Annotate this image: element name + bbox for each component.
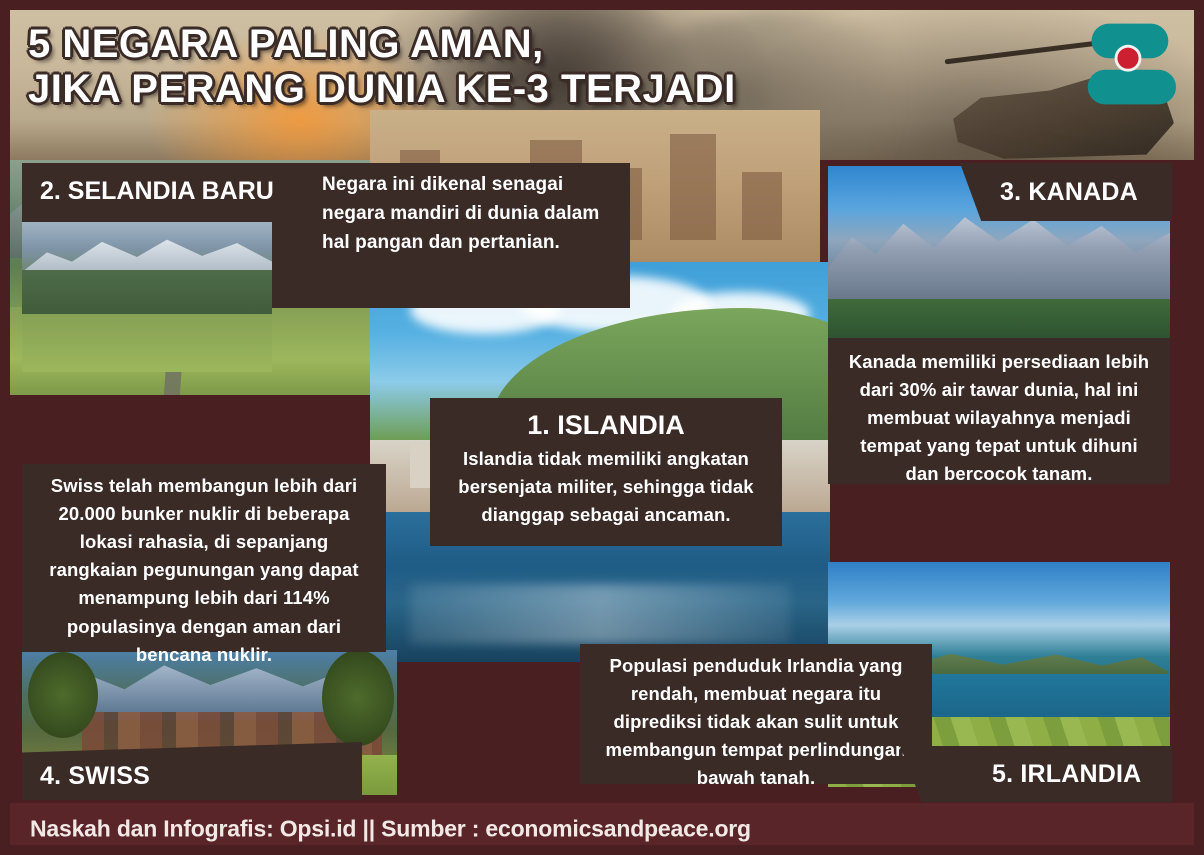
- country-label-canada: 3. KANADA: [960, 163, 1172, 221]
- headline-line-2: JIKA PERANG DUNIA KE-3 TERJADI: [28, 67, 878, 112]
- country-body-swiss: Swiss telah membangun lebih dari 20.000 …: [36, 472, 372, 669]
- country-title-new-zealand: 2. SELANDIA BARU: [40, 177, 274, 206]
- country-label-ireland: 5. IRLANDIA: [900, 746, 1172, 802]
- country-title-swiss: 4. SWISS: [40, 762, 150, 791]
- country-body-iceland: Islandia tidak memiliki angkatan bersenj…: [448, 445, 764, 529]
- country-card-swiss: Swiss telah membangun lebih dari 20.000 …: [22, 464, 386, 652]
- opsi-id-logo[interactable]: [1080, 16, 1176, 112]
- footer-bar: Naskah dan Infografis: Opsi.id || Sumber…: [0, 803, 1204, 855]
- country-title-ireland: 5. IRLANDIA: [992, 760, 1141, 789]
- country-card-iceland: 1. ISLANDIA Islandia tidak memiliki angk…: [430, 398, 782, 546]
- country-body-ireland: Populasi penduduk Irlandia yang rendah, …: [596, 652, 916, 793]
- country-body-canada: Kanada memiliki persediaan lebih dari 30…: [844, 348, 1154, 489]
- country-body-new-zealand: Negara ini dikenal senagai negara mandir…: [322, 171, 618, 258]
- infographic-canvas: 5 NEGARA PALING AMAN, JIKA PERANG DUNIA …: [0, 0, 1204, 855]
- country-title-iceland: 1. ISLANDIA: [448, 410, 764, 441]
- country-card-ireland: Populasi penduduk Irlandia yang rendah, …: [580, 644, 932, 784]
- water-reflection-icon: [410, 584, 790, 644]
- page-title: 5 NEGARA PALING AMAN, JIKA PERANG DUNIA …: [28, 22, 878, 112]
- country-title-canada: 3. KANADA: [1000, 178, 1138, 207]
- new-zealand-mountains-photo: [22, 222, 272, 372]
- footer-credit: Naskah dan Infografis: Opsi.id || Sumber…: [30, 816, 751, 843]
- headline-line-1: 5 NEGARA PALING AMAN,: [28, 22, 544, 66]
- country-card-canada: Kanada memiliki persediaan lebih dari 30…: [828, 338, 1170, 484]
